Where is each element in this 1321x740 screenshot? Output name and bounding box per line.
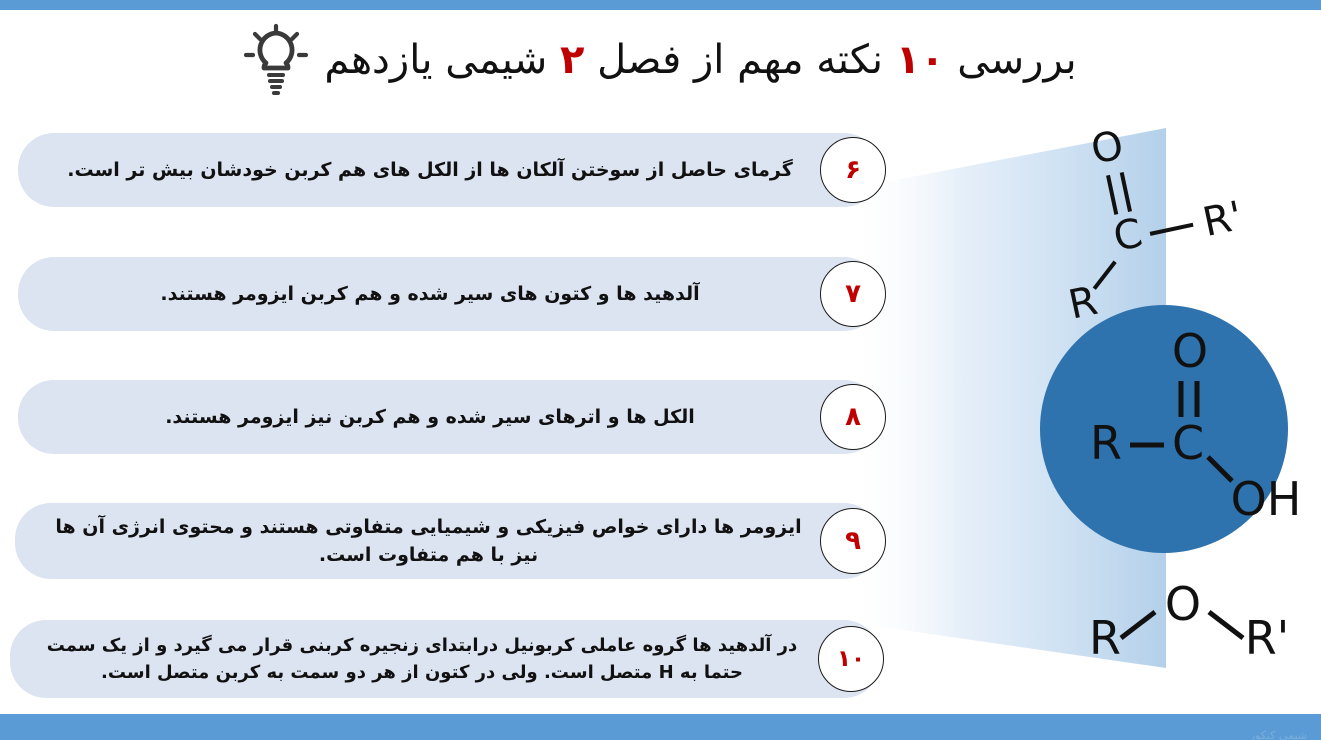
- atom-label-r: R: [1089, 611, 1121, 665]
- carboxylic-acid-structure: O C R OH: [1080, 325, 1300, 525]
- footer-note: شیمی کنکور: [1250, 729, 1307, 740]
- list-item-text: آلدهید ها و کتون های سیر شده و هم کربن ا…: [40, 257, 820, 331]
- list-item-number: ۹: [820, 508, 886, 574]
- title-prefix: بررسی: [945, 37, 1077, 83]
- list-item-number: ۱۰: [818, 626, 884, 692]
- notes-list: گرمای حاصل از سوختن آلکان ها از الکل های…: [0, 120, 920, 700]
- atom-label-c: C: [1109, 210, 1146, 261]
- atom-label-r-prime: R': [1245, 611, 1290, 665]
- ether-structure: R O R': [1085, 582, 1295, 672]
- list-item-text: در آلدهید ها گروه عاملی کربونیل درابتدای…: [22, 620, 822, 698]
- top-accent-band: [0, 0, 1321, 10]
- slide-title-row: بررسی ۱۰ نکته مهم از فصل ۲ شیمی یازدهم: [0, 14, 1321, 106]
- title-suffix: شیمی یازدهم: [324, 37, 560, 83]
- atom-label-o: O: [1172, 324, 1208, 378]
- title-number-10: ۱۰: [896, 37, 945, 83]
- atom-label-o: O: [1165, 577, 1201, 631]
- title-number-2: ۲: [560, 37, 584, 83]
- bottom-accent-band: شیمی کنکور: [0, 714, 1321, 740]
- atom-label-r: R: [1090, 416, 1122, 470]
- list-item-text: ایزومر ها دارای خواص فیزیکی و شیمیایی مت…: [36, 503, 821, 579]
- atom-label-c: C: [1172, 416, 1204, 470]
- title-middle: نکته مهم از فصل: [584, 37, 895, 83]
- list-item-text: الکل ها و اترهای سیر شده و هم کربن نیز ا…: [40, 380, 820, 454]
- list-item-number: ۷: [820, 261, 886, 327]
- lightbulb-icon: [244, 23, 308, 97]
- list-item-number: ۸: [820, 384, 886, 450]
- atom-label-o: O: [1087, 122, 1127, 174]
- ketone-structure: O C R R': [1060, 110, 1290, 295]
- atom-label-r-prime: R': [1199, 193, 1247, 246]
- list-item-number: ۶: [820, 137, 886, 203]
- list-item-text: گرمای حاصل از سوختن آلکان ها از الکل های…: [40, 133, 820, 207]
- slide-canvas: بررسی ۱۰ نکته مهم از فصل ۲ شیمی یازدهم گ…: [0, 0, 1321, 740]
- page-title: بررسی ۱۰ نکته مهم از فصل ۲ شیمی یازدهم: [324, 35, 1076, 85]
- atom-label-oh: OH: [1231, 472, 1302, 526]
